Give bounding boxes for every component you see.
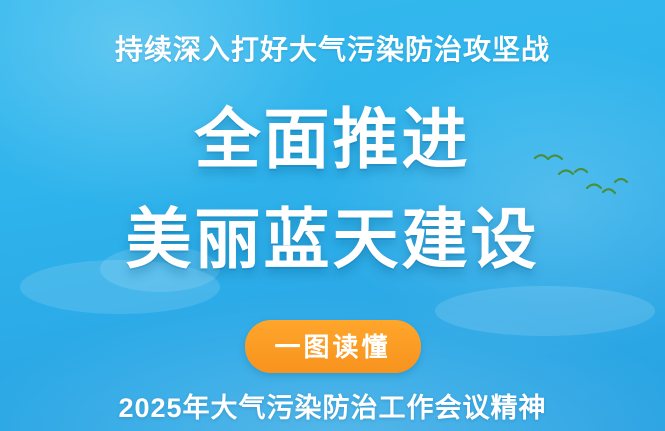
poster-subtitle: 2025年大气污染防治工作会议精神 [0,386,665,425]
poster-canvas: 持续深入打好大气污染防治攻坚战 全面推进 美丽蓝天建设 一图读懂 2025年大气… [0,0,665,431]
headline-main-line2: 美丽蓝天建设 [0,186,665,282]
headline-main-line1: 全面推进 [0,86,665,182]
ribbon-badge[interactable]: 一图读懂 [244,320,420,373]
headline-top: 持续深入打好大气污染防治攻坚战 [0,28,665,68]
cloud-shape-right [435,286,655,336]
